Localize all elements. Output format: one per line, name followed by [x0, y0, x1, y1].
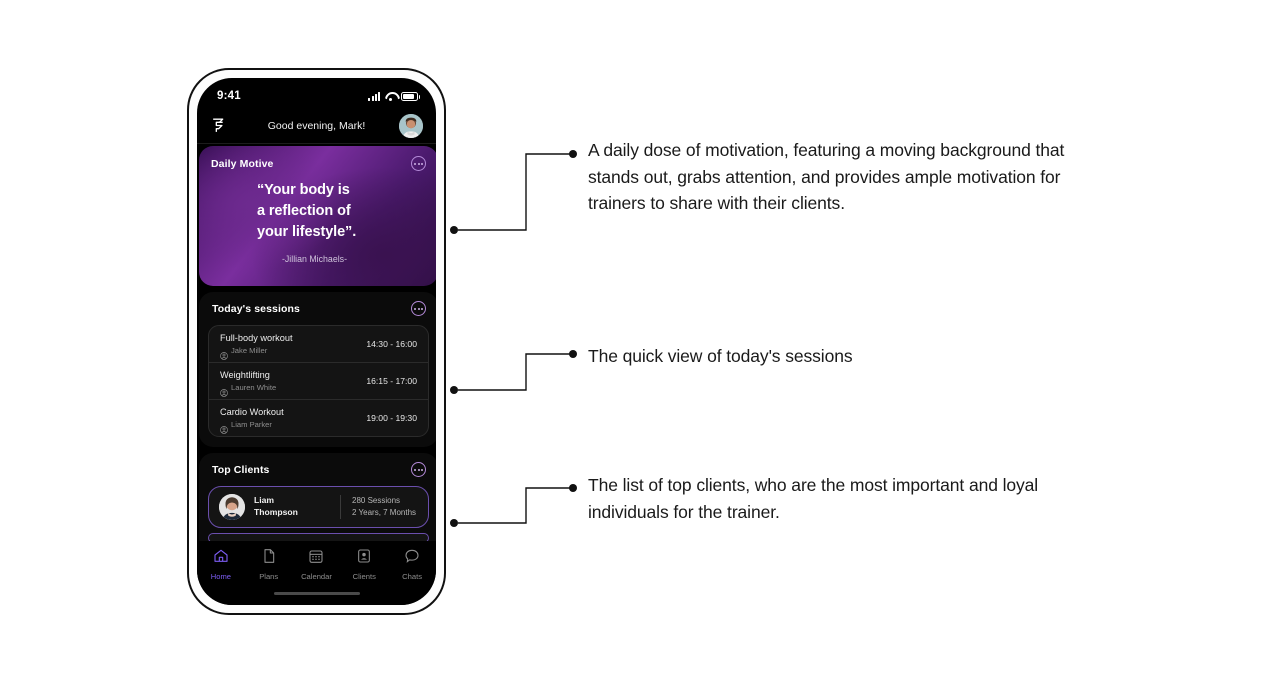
callout-connector-2 [450, 346, 580, 400]
contact-card-icon [356, 548, 372, 569]
todays-sessions-card: Today's sessions Full-body workout [199, 292, 436, 447]
client-sessions-count: 280 Sessions [352, 495, 418, 507]
client-name: Liam Thompson [254, 495, 298, 518]
session-time: 14:30 - 16:00 [366, 339, 417, 349]
app-header: Good evening, Mark! [197, 108, 436, 144]
tab-plans[interactable]: Plans [245, 548, 293, 581]
battery-icon [401, 92, 418, 101]
daily-motive-header: Daily Motive [199, 146, 436, 171]
screenshot-canvas: 9:41 Good evening, Mark! [0, 0, 1264, 687]
list-item[interactable]: Liam Thompson 280 Sessions 2 Years, 7 Mo… [208, 486, 429, 528]
person-icon [220, 421, 228, 429]
avatar[interactable] [399, 114, 423, 138]
table-row[interactable]: Full-body workout Jake Miller [209, 326, 428, 363]
annotation-text-1: A daily dose of motivation, featuring a … [588, 137, 1068, 217]
app-scroll-body[interactable]: Daily Motive “Your body is a reflection … [197, 144, 436, 571]
quote-text: “Your body is a reflection of your lifes… [257, 180, 422, 243]
person-icon [220, 384, 228, 392]
quote-author: -Jillian Michaels- [199, 254, 436, 264]
avatar [219, 494, 245, 520]
person-icon [220, 347, 228, 355]
session-time: 19:00 - 19:30 [366, 413, 417, 423]
tab-label: Home [211, 572, 231, 581]
tab-home[interactable]: Home [197, 548, 245, 581]
callout-connector-1 [450, 145, 580, 240]
session-name: Cardio Workout [220, 407, 284, 417]
session-client-name: Liam Parker [231, 420, 272, 429]
tab-calendar[interactable]: Calendar [293, 548, 341, 581]
home-indicator [274, 592, 360, 596]
client-first-name: Liam [254, 495, 274, 505]
todays-sessions-header: Today's sessions [208, 301, 429, 316]
top-clients-title: Top Clients [212, 464, 270, 476]
daily-motive-title: Daily Motive [211, 158, 273, 170]
table-row[interactable]: Cardio Workout Liam Parker [209, 400, 428, 436]
session-client: Liam Parker [220, 420, 284, 429]
app-logo-icon[interactable] [210, 116, 229, 135]
client-stats: 280 Sessions 2 Years, 7 Months [340, 495, 418, 519]
more-options-icon[interactable] [411, 462, 426, 477]
tab-label: Chats [402, 572, 422, 581]
tab-chats[interactable]: Chats [388, 548, 436, 581]
home-icon [213, 548, 229, 569]
session-name: Weightlifting [220, 370, 276, 380]
tab-label: Calendar [301, 572, 332, 581]
top-clients-header: Top Clients [208, 462, 429, 477]
annotation-text-2: The quick view of today's sessions [588, 343, 1068, 370]
cellular-signal-icon [368, 92, 380, 101]
daily-motive-card[interactable]: Daily Motive “Your body is a reflection … [199, 146, 436, 286]
todays-sessions-title: Today's sessions [212, 303, 300, 315]
session-time: 16:15 - 17:00 [366, 376, 417, 386]
status-bar-icons [368, 92, 418, 101]
chat-bubble-icon [404, 548, 420, 569]
phone-mockup-frame: 9:41 Good evening, Mark! [187, 68, 446, 615]
session-client-name: Jake Miller [231, 346, 267, 355]
more-options-icon[interactable] [411, 301, 426, 316]
annotation-text-3: The list of top clients, who are the mos… [588, 472, 1068, 525]
phone-screen: 9:41 Good evening, Mark! [197, 78, 436, 605]
bottom-tab-bar: Home Plans [197, 541, 436, 605]
sessions-list: Full-body workout Jake Miller [208, 325, 429, 437]
status-bar: 9:41 [197, 78, 436, 108]
tab-clients[interactable]: Clients [340, 548, 388, 581]
client-last-name: Thompson [254, 507, 298, 517]
session-name: Full-body workout [220, 333, 293, 343]
wifi-icon [385, 92, 396, 101]
session-client: Jake Miller [220, 346, 293, 355]
table-row[interactable]: Weightlifting Lauren White [209, 363, 428, 400]
session-client: Lauren White [220, 383, 276, 392]
callout-connector-3 [450, 481, 580, 535]
session-client-name: Lauren White [231, 383, 276, 392]
tab-label: Plans [259, 572, 278, 581]
status-bar-time: 9:41 [217, 90, 241, 102]
tab-label: Clients [353, 572, 376, 581]
client-tenure: 2 Years, 7 Months [352, 507, 418, 519]
document-icon [261, 548, 277, 569]
calendar-icon [308, 548, 324, 569]
more-options-icon[interactable] [411, 156, 426, 171]
top-clients-card: Top Clients [199, 453, 436, 553]
